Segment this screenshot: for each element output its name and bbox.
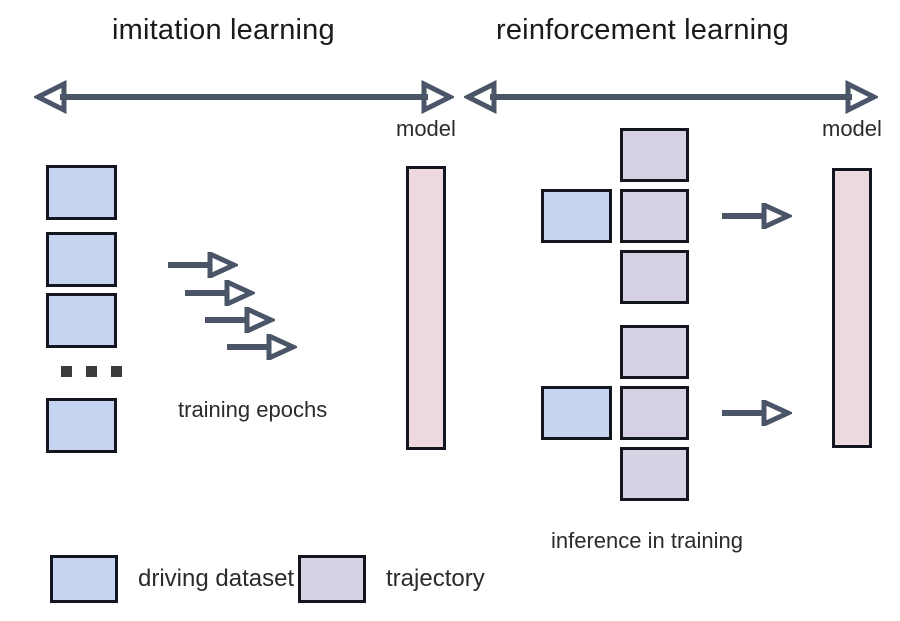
training-epoch-arrow [168, 252, 238, 278]
driving-dataset-box [46, 165, 117, 220]
trajectory-box [620, 189, 689, 243]
legend-label-trajectory: trajectory [386, 565, 485, 593]
caption-inference-in-training: inference in training [551, 528, 743, 554]
training-epoch-arrow [185, 280, 255, 306]
model-bar-reinforcement [832, 168, 872, 448]
model-label-imitation: model [396, 116, 456, 142]
panel-title-imitation-learning: imitation learning [112, 14, 335, 47]
training-epoch-arrow [205, 307, 275, 333]
driving-dataset-box [46, 232, 117, 287]
trajectory-swatch-icon [298, 555, 366, 603]
diagram-canvas: imitation learning model training epochs… [0, 0, 900, 621]
model-label-reinforcement: model [822, 116, 882, 142]
driving-dataset-box [541, 386, 612, 440]
legend-item-trajectory: trajectory [298, 555, 485, 603]
legend-label-driving-dataset: driving dataset [138, 565, 294, 593]
caption-training-epochs: training epochs [178, 397, 327, 423]
inference-arrow [722, 203, 792, 229]
span-arrow-reinforcement-learning [464, 80, 878, 114]
trajectory-box [620, 325, 689, 379]
model-bar-imitation [406, 166, 446, 450]
trajectory-box [620, 386, 689, 440]
trajectory-box [620, 447, 689, 501]
training-epoch-arrow [227, 334, 297, 360]
driving-dataset-swatch-icon [50, 555, 118, 603]
legend-item-driving-dataset: driving dataset [50, 555, 294, 603]
driving-dataset-box [46, 398, 117, 453]
trajectory-box [620, 128, 689, 182]
ellipsis-dots [61, 366, 122, 377]
driving-dataset-box [46, 293, 117, 348]
inference-arrow [722, 400, 792, 426]
panel-title-reinforcement-learning: reinforcement learning [496, 14, 789, 47]
driving-dataset-box [541, 189, 612, 243]
trajectory-box [620, 250, 689, 304]
span-arrow-imitation-learning [34, 80, 454, 114]
